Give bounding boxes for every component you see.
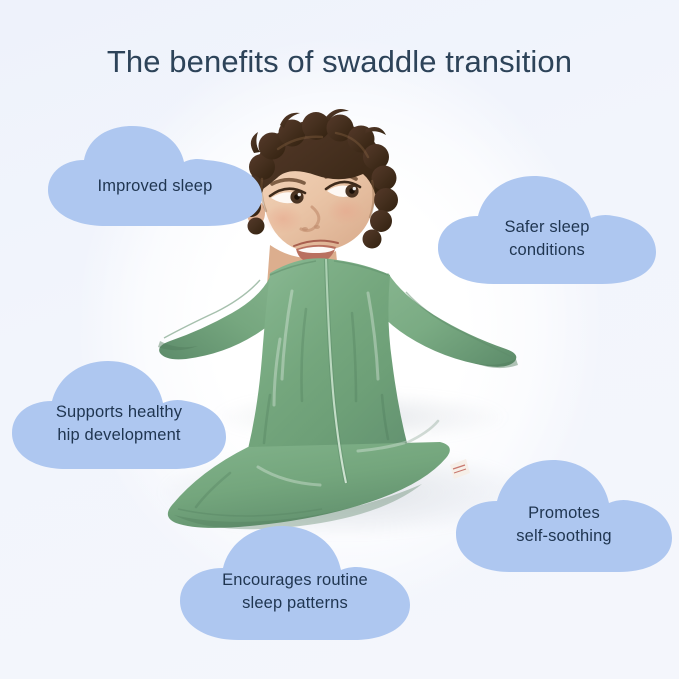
cloud-label: Promotes self-soothing [510, 502, 618, 548]
cloud-self-soothing[interactable]: Promotes self-soothing [452, 456, 676, 576]
cloud-routine-sleep[interactable]: Encourages routine sleep patterns [176, 522, 414, 644]
cloud-label: Safer sleep conditions [498, 216, 595, 262]
cloud-hip-development[interactable]: Supports healthy hip development [8, 357, 230, 473]
cloud-improved-sleep[interactable]: Improved sleep [44, 122, 266, 230]
cloud-label: Improved sleep [92, 175, 219, 198]
cloud-safer-sleep[interactable]: Safer sleep conditions [434, 172, 660, 288]
page-title: The benefits of swaddle transition [0, 44, 679, 80]
cloud-label: Supports healthy hip development [50, 401, 188, 447]
infographic-canvas: The benefits of swaddle transition [0, 0, 679, 679]
cloud-label: Encourages routine sleep patterns [216, 569, 374, 615]
